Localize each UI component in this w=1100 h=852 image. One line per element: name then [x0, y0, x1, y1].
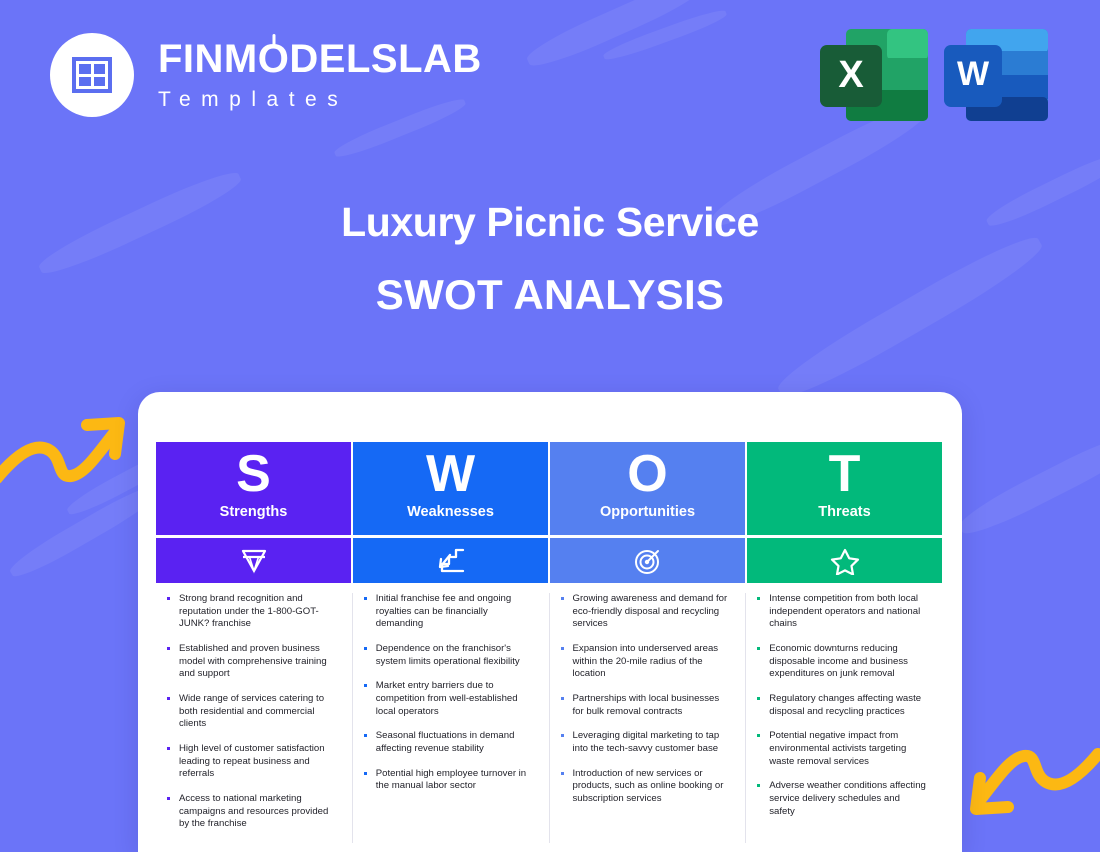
page-title-block: Luxury Picnic Service SWOT ANALYSIS [0, 200, 1100, 319]
squiggle-arrow-down-left-icon [965, 742, 1100, 829]
list-item: Growing awareness and demand for eco-fri… [560, 593, 732, 631]
brush-stroke [602, 6, 729, 64]
swot-label: Opportunities [600, 504, 695, 520]
stairs-down-arrow-icon [436, 547, 466, 575]
swot-header-threats[interactable]: T Threats [747, 442, 942, 535]
list-item: Adverse weather conditions affecting ser… [756, 780, 928, 818]
excel-icon: X [818, 27, 930, 123]
list-item: Expansion into underserved areas within … [560, 643, 732, 681]
list-item: Strong brand recognition and reputation … [166, 593, 338, 631]
list-item: High level of customer satisfaction lead… [166, 743, 338, 781]
swot-header-weaknesses[interactable]: W Weaknesses [353, 442, 548, 535]
swot-card: S Strengths W Weaknesses O Opportunities… [138, 392, 962, 852]
list-item: Initial franchise fee and ongoing royalt… [363, 593, 535, 631]
swot-header-row: S Strengths W Weaknesses O Opportunities… [156, 442, 942, 535]
swot-bullet-list: Intense competition from both local inde… [756, 593, 928, 818]
list-item: Potential high employee turnover in the … [363, 768, 535, 793]
brand-tagline: Templates [158, 88, 482, 112]
list-item: Intense competition from both local inde… [756, 593, 928, 631]
brand-name-part2: DELSLAB [289, 37, 481, 81]
swot-header-opportunities[interactable]: O Opportunities [550, 442, 745, 535]
brush-stroke [523, 0, 707, 74]
swot-grid: S Strengths W Weaknesses O Opportunities… [156, 442, 942, 843]
excel-icon-letter: X [838, 54, 864, 96]
list-item: Economic downturns reducing disposable i… [756, 643, 928, 681]
swot-body-opportunities: Growing awareness and demand for eco-fri… [550, 593, 747, 843]
brush-stroke [955, 426, 1100, 542]
list-item: Dependence on the franchisor's system li… [363, 643, 535, 668]
swot-label: Strengths [220, 504, 288, 520]
star-icon [830, 547, 860, 575]
squiggle-arrow-up-right-icon [0, 408, 130, 495]
target-icon [634, 547, 662, 575]
page-subtitle: SWOT ANALYSIS [0, 271, 1100, 319]
swot-icon-cell-opportunities [550, 538, 745, 583]
page-title: Luxury Picnic Service [0, 200, 1100, 245]
list-item: Potential negative impact from environme… [756, 730, 928, 768]
swot-icon-cell-strengths [156, 538, 351, 583]
word-icon: W [942, 27, 1050, 123]
swot-bullet-list: Initial franchise fee and ongoing royalt… [363, 593, 535, 793]
diamond-icon [239, 548, 269, 574]
swot-letter: O [627, 448, 667, 501]
swot-icon-cell-threats [747, 538, 942, 583]
swot-icon-row [156, 538, 942, 583]
list-item: Established and proven business model wi… [166, 643, 338, 681]
swot-letter: W [426, 448, 475, 501]
list-item: Leveraging digital marketing to tap into… [560, 730, 732, 755]
list-item: Seasonal fluctuations in demand affectin… [363, 730, 535, 755]
swot-body-threats: Intense competition from both local inde… [746, 593, 942, 843]
swot-body-weaknesses: Initial franchise fee and ongoing royalt… [353, 593, 550, 843]
swot-label: Threats [818, 504, 870, 520]
brand-name: FINMODELSLAB [158, 39, 482, 79]
swot-header-strengths[interactable]: S Strengths [156, 442, 351, 535]
word-icon-letter: W [957, 55, 990, 93]
list-item: Wide range of services catering to both … [166, 693, 338, 731]
list-item: Partnerships with local businesses for b… [560, 693, 732, 718]
brand-logo: FINMODELSLAB Templates [50, 33, 482, 117]
swot-body-strengths: Strong brand recognition and reputation … [156, 593, 353, 843]
swot-icon-cell-weaknesses [353, 538, 548, 583]
swot-letter: T [829, 448, 861, 501]
swot-bullet-list: Strong brand recognition and reputation … [166, 593, 338, 831]
swot-body-row: Strong brand recognition and reputation … [156, 593, 942, 843]
list-item: Regulatory changes affecting waste dispo… [756, 693, 928, 718]
swot-label: Weaknesses [407, 504, 494, 520]
swot-letter: S [236, 448, 271, 501]
list-item: Introduction of new services or products… [560, 768, 732, 806]
list-item: Access to national marketing campaigns a… [166, 793, 338, 831]
list-item: Market entry barriers due to competition… [363, 680, 535, 718]
brand-name-o: O [258, 39, 290, 79]
grid-logo-icon [50, 33, 134, 117]
swot-bullet-list: Growing awareness and demand for eco-fri… [560, 593, 732, 806]
brand-name-part1: FINM [158, 37, 258, 81]
